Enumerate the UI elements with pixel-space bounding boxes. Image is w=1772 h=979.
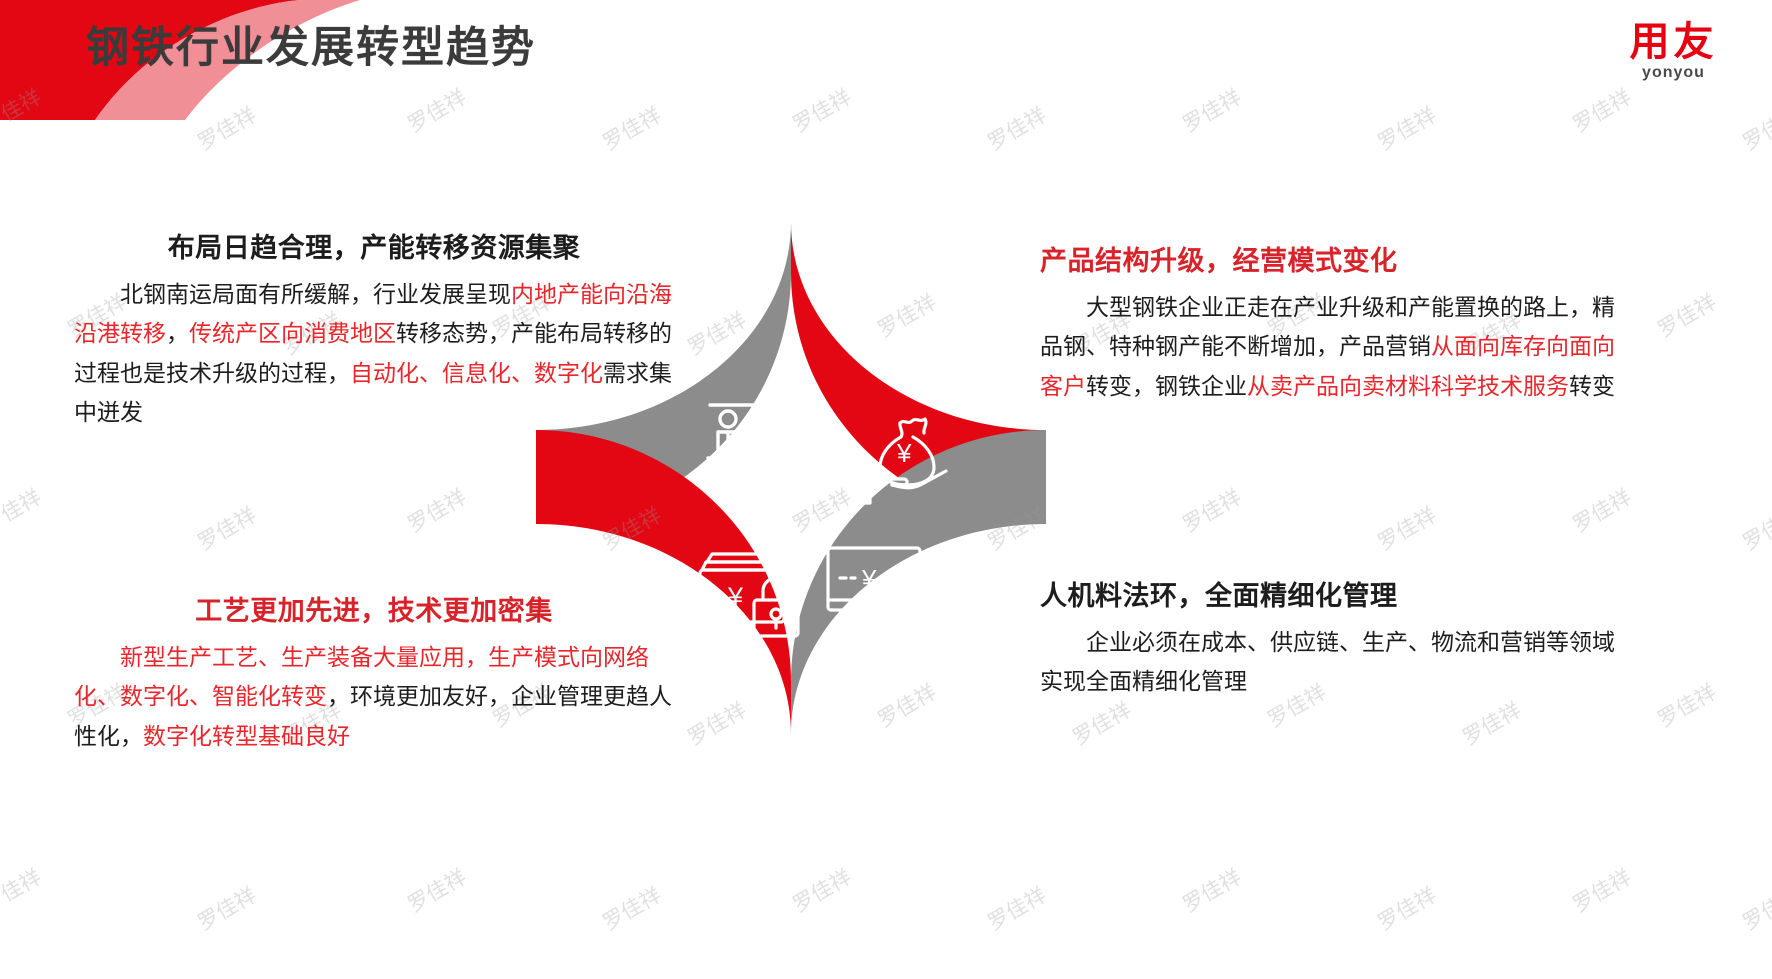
watermark-text: 罗佳祥 — [1372, 99, 1442, 156]
watermark-text: 罗佳祥 — [1177, 481, 1247, 538]
quadrant-bottom-left-body: 新型生产工艺、生产装备大量应用，生产模式向网络化、数字化、智能化转变，环境更加友… — [74, 638, 674, 757]
quadrant-bottom-left: 工艺更加先进，技术更加密集 新型生产工艺、生产装备大量应用，生产模式向网络化、数… — [74, 595, 674, 756]
watermark-text: 罗佳祥 — [787, 861, 857, 918]
watermark-text: 罗佳祥 — [982, 879, 1052, 936]
quadrant-bottom-right: 人机料法环，全面精细化管理 企业必须在成本、供应链、生产、物流和营销等领域实现全… — [1040, 580, 1625, 702]
watermark-text: 罗佳祥 — [1567, 81, 1637, 138]
watermark-text: 罗佳祥 — [1737, 499, 1772, 556]
watermark-text: 罗佳祥 — [0, 81, 46, 138]
quadrant-bottom-right-heading: 人机料法环，全面精细化管理 — [1040, 580, 1625, 614]
quadrant-top-left: 布局日趋合理，产能转移资源集聚 北钢南运局面有所缓解，行业发展呈现内地产能向沿海… — [74, 232, 674, 433]
watermark-text: 罗佳祥 — [0, 861, 46, 918]
page-title: 钢铁行业发展转型趋势 — [86, 23, 536, 75]
watermark-text: 罗佳祥 — [402, 861, 472, 918]
quadrant-top-right: 产品结构升级，经营模式变化 大型钢铁企业正走在产业升级和产能置换的路上，精品钢、… — [1040, 245, 1625, 406]
watermark-text: 罗佳祥 — [192, 99, 262, 156]
logo-chinese-text: 用友 — [1601, 22, 1746, 62]
watermark-text: 罗佳祥 — [1457, 694, 1527, 751]
watermark-text: 罗佳祥 — [597, 99, 667, 156]
watermark-text: 罗佳祥 — [1177, 81, 1247, 138]
watermark-text: 罗佳祥 — [0, 481, 46, 538]
yonyou-logo: 用友 yonyou — [1601, 22, 1746, 81]
watermark-text: 罗佳祥 — [192, 879, 262, 936]
watermark-text: 罗佳祥 — [1372, 879, 1442, 936]
watermark-text: 罗佳祥 — [402, 481, 472, 538]
watermark-text: 罗佳祥 — [597, 879, 667, 936]
quadrant-top-right-body: 大型钢铁企业正走在产业升级和产能置换的路上，精品钢、特种钢产能不断增加，产品营销… — [1040, 288, 1625, 407]
quadrant-bottom-right-body: 企业必须在成本、供应链、生产、物流和营销等领域实现全面精细化管理 — [1040, 623, 1625, 702]
watermark-text: 罗佳祥 — [1177, 861, 1247, 918]
watermark-text: 罗佳祥 — [1652, 286, 1722, 343]
watermark-text: 罗佳祥 — [1372, 499, 1442, 556]
quadrant-top-right-heading: 产品结构升级，经营模式变化 — [1040, 245, 1625, 279]
logo-latin-text: yonyou — [1601, 65, 1746, 81]
watermark-text: 罗佳祥 — [1652, 676, 1722, 733]
svg-text:¥: ¥ — [896, 438, 912, 468]
watermark-text: 罗佳祥 — [402, 81, 472, 138]
watermark-text: 罗佳祥 — [982, 99, 1052, 156]
watermark-text: 罗佳祥 — [1567, 481, 1637, 538]
svg-text:¥: ¥ — [861, 564, 877, 594]
quadrant-top-left-heading: 布局日趋合理，产能转移资源集聚 — [74, 232, 674, 266]
quadrant-top-left-body: 北钢南运局面有所缓解，行业发展呈现内地产能向沿海沿港转移，传统产区向消费地区转移… — [74, 275, 674, 433]
watermark-text: 罗佳祥 — [1567, 861, 1637, 918]
quadrant-bottom-left-heading: 工艺更加先进，技术更加密集 — [74, 595, 674, 629]
watermark-text: 罗佳祥 — [1067, 694, 1137, 751]
svg-text:¥: ¥ — [727, 582, 744, 612]
watermark-text: 罗佳祥 — [192, 499, 262, 556]
watermark-text: 罗佳祥 — [1737, 879, 1772, 936]
watermark-text: 罗佳祥 — [787, 81, 857, 138]
watermark-text: 罗佳祥 — [1737, 99, 1772, 156]
